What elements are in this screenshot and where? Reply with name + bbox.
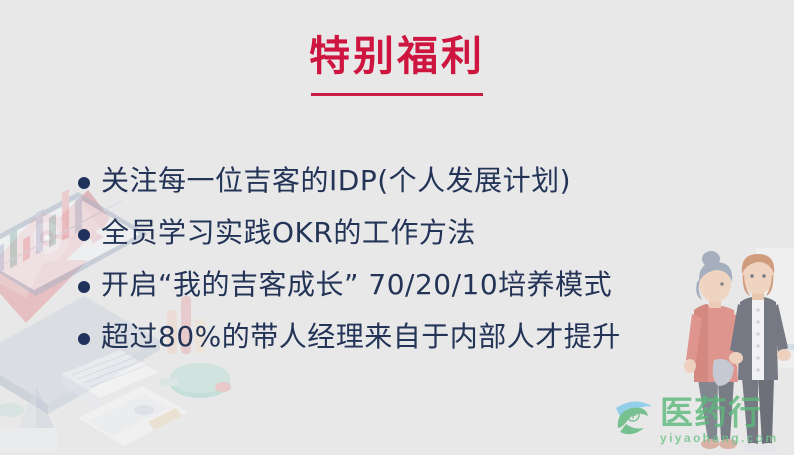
list-item-label: 全员学习实践OKR的工作方法 [101,214,476,253]
leaf-cross-logo-icon [612,398,656,443]
list-item: 关注每一位吉客的IDP(个人发展计划) [78,162,768,202]
title-underline-rule [311,93,483,96]
cone-pyramid [18,386,54,428]
title-block: 特别福利 [0,34,794,96]
slide-canvas: 特别福利 关注每一位吉客的IDP(个人发展计划) 全员学习实践OKR的工作方法 … [0,0,794,455]
bullet-dot-icon [78,229,90,241]
watermark-url-text: yiyaohang.com [660,432,779,444]
list-item: 全员学习实践OKR的工作方法 [78,214,768,254]
watermark: 医药行 yiyaohang.com [612,396,779,444]
list-item: 开启“我的吉客成长” 70/20/10培养模式 [78,266,768,306]
list-item: 超过80%的带人经理来自于内部人才提升 [78,318,768,358]
list-item-label: 开启“我的吉客成长” 70/20/10培养模式 [101,266,612,305]
bullet-dot-icon [78,333,90,345]
list-item-label: 关注每一位吉客的IDP(个人发展计划) [101,162,571,201]
paper-documents [0,386,188,452]
bullet-dot-icon [78,177,90,189]
bullet-list: 关注每一位吉客的IDP(个人发展计划) 全员学习实践OKR的工作方法 开启“我的… [78,162,768,370]
watermark-brand-text: 医药行 [660,396,779,429]
list-item-label: 超过80%的带人经理来自于内部人才提升 [101,318,621,357]
page-title: 特别福利 [0,34,794,79]
bullet-dot-icon [78,281,90,293]
